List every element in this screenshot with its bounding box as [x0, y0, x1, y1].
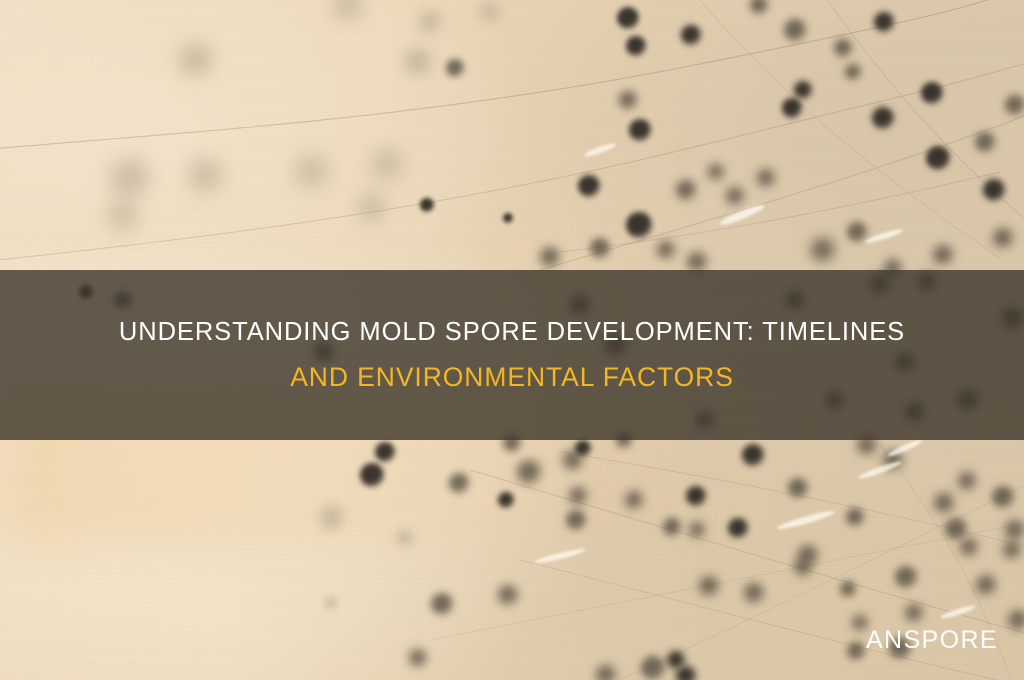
mold-spore [111, 159, 149, 197]
mold-spore [498, 585, 518, 605]
mold-spore [663, 518, 681, 536]
mold-spore [794, 558, 812, 576]
mold-spore [840, 581, 856, 597]
mold-spore [325, 597, 337, 609]
mold-spore [784, 19, 806, 41]
mold-spore [360, 463, 384, 487]
mold-spore [687, 252, 707, 272]
mold-spore [626, 212, 652, 238]
mold-spore [976, 575, 996, 595]
hypha-thread [0, 0, 1024, 150]
hypha-thread [520, 560, 1024, 680]
mold-spore [405, 49, 431, 75]
mold-spore [517, 460, 541, 484]
mold-spore [895, 566, 917, 588]
mold-spore [934, 493, 954, 513]
mold-spore [782, 98, 802, 118]
mold-spore [676, 180, 696, 200]
mold-spore [983, 179, 1005, 201]
mold-spore [847, 222, 867, 242]
mold-spore [757, 169, 775, 187]
mold-spore [708, 164, 724, 180]
mold-spore [320, 506, 344, 530]
mold-spore [794, 81, 812, 99]
mold-spore [449, 473, 469, 493]
mold-spore [498, 492, 514, 508]
mold-spore [958, 472, 976, 490]
mold-spore [566, 510, 586, 530]
hypha-thread [0, 56, 1024, 262]
mold-spore [569, 487, 587, 505]
mold-spore [1003, 541, 1021, 559]
mold-spore [420, 198, 434, 212]
mold-spore [189, 159, 223, 193]
mold-spore [641, 656, 665, 680]
mold-spore [575, 440, 591, 456]
mold-spore [359, 195, 385, 221]
mold-spore [874, 12, 894, 32]
mold-spore [590, 238, 610, 258]
mold-spore [992, 486, 1014, 508]
mold-spore [845, 64, 861, 80]
mold-spore [993, 228, 1013, 248]
mold-spore [372, 150, 402, 180]
mold-spore [617, 7, 639, 29]
mold-spore [689, 522, 705, 538]
mold-spore [625, 491, 643, 509]
mold-spore [933, 245, 953, 265]
mold-spore [1005, 95, 1024, 115]
watermark-anspore: ANSPORE [866, 628, 998, 653]
hypha-thread [700, 0, 1000, 258]
mold-spore [872, 107, 894, 129]
mold-spore [629, 119, 651, 141]
mold-spore [1005, 520, 1024, 540]
mold-spore [619, 91, 637, 109]
mold-spore [728, 518, 748, 538]
mold-spore [681, 25, 701, 45]
mold-spore [726, 187, 744, 205]
mold-spore [667, 651, 685, 669]
mold-spore [626, 36, 646, 56]
mold-spore [179, 43, 213, 77]
mold-spore [945, 518, 967, 540]
mold-spore [788, 478, 808, 498]
mold-spore [397, 530, 413, 546]
title-banner: UNDERSTANDING MOLD SPORE DEVELOPMENT: TI… [0, 270, 1024, 440]
mold-spore [431, 593, 453, 615]
mold-spore [296, 156, 328, 188]
mold-spore [847, 642, 865, 660]
hypha-thread [430, 520, 1024, 640]
mold-spore [1008, 610, 1024, 630]
mold-spore [975, 132, 995, 152]
mold-spore [409, 649, 427, 667]
mold-spore [846, 508, 864, 526]
mold-spore [108, 201, 138, 231]
mold-spore [699, 576, 719, 596]
title-line-1: UNDERSTANDING MOLD SPORE DEVELOPMENT: TI… [119, 320, 905, 346]
mold-spore [503, 213, 513, 223]
mold-spore [744, 583, 764, 603]
mold-spore [926, 146, 950, 170]
mold-spore [921, 82, 943, 104]
mold-spore [686, 486, 706, 506]
mold-spore [446, 59, 464, 77]
hero-image: UNDERSTANDING MOLD SPORE DEVELOPMENT: TI… [0, 0, 1024, 680]
mold-spore [540, 247, 560, 267]
mold-spore [481, 3, 499, 21]
mold-spore [578, 175, 600, 197]
mold-spore [811, 238, 835, 262]
mold-spore [596, 665, 616, 680]
mold-spore [960, 538, 978, 556]
mold-spore [375, 442, 395, 462]
mold-spore [834, 39, 852, 57]
mold-spore [905, 604, 923, 622]
mold-spore [742, 444, 764, 466]
title-line-2: AND ENVIRONMENTAL FACTORS [290, 364, 734, 391]
mold-spore [419, 11, 441, 33]
mold-spore [657, 241, 675, 259]
